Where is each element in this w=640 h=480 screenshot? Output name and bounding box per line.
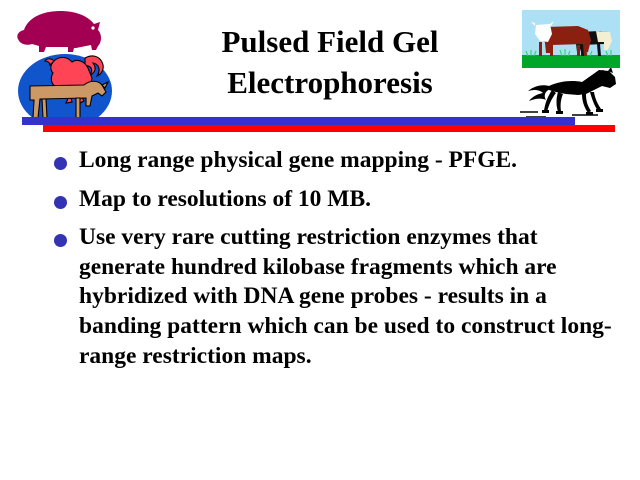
blue-disc-bullet-icon <box>54 234 67 247</box>
slide-canvas: Pulsed Field Gel Electrophoresis <box>0 0 640 480</box>
divider-rule-red <box>43 125 615 132</box>
list-item-label: Map to resolutions of 10 MB. <box>79 185 622 215</box>
pig-silhouette-icon <box>17 11 101 52</box>
divider-rule-blue <box>22 117 575 125</box>
page-title: Pulsed Field Gel Electrophoresis <box>150 22 510 104</box>
title-line-1: Pulsed Field Gel <box>150 22 510 63</box>
blue-disc-bullet-icon <box>54 157 67 170</box>
title-line-2: Electrophoresis <box>150 63 510 104</box>
livestock-logo-icon <box>6 6 118 124</box>
list-item-label: Use very rare cutting restriction enzyme… <box>79 223 622 371</box>
list-item: Map to resolutions of 10 MB. <box>52 185 622 215</box>
blue-disc-bullet-icon <box>54 196 67 209</box>
galloping-horse-silhouette-icon <box>516 68 622 120</box>
cattle-pasture-photo <box>522 10 620 68</box>
list-item: Long range physical gene mapping - PFGE. <box>52 146 622 176</box>
bullet-list: Long range physical gene mapping - PFGE.… <box>52 146 622 380</box>
list-item: Use very rare cutting restriction enzyme… <box>52 223 622 371</box>
list-item-label: Long range physical gene mapping - PFGE. <box>79 146 622 176</box>
